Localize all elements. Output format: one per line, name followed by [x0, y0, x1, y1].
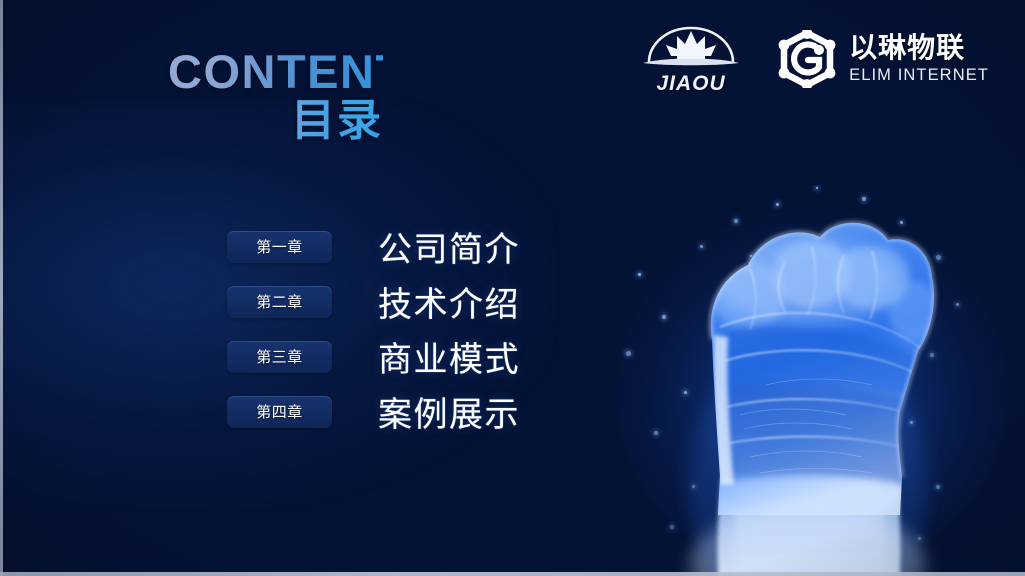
chapter-badge-label: 第二章	[256, 291, 303, 312]
chapter-badge-3[interactable]: 第三章	[227, 341, 332, 373]
slide-left-border	[0, 0, 3, 576]
chapter-badge-label: 第三章	[256, 346, 303, 367]
chapter-badge-4[interactable]: 第四章	[227, 396, 332, 428]
table-of-contents: 第一章 公司简介 第二章 技术介绍 第三章 商业模式 第四章 案例展示	[227, 228, 520, 430]
logo-group: JIAOU 以琳物联 ELIM INTERNET	[641, 22, 989, 96]
list-item[interactable]: 第四章 案例展示	[227, 393, 520, 430]
chapter-badge-1[interactable]: 第一章	[227, 231, 332, 263]
jiaou-wordmark: JIAOU	[641, 72, 741, 96]
list-item[interactable]: 第二章 技术介绍	[227, 283, 520, 320]
elim-logo-chinese: 以琳物联	[849, 34, 989, 62]
chapter-title-1[interactable]: 公司简介	[378, 222, 520, 271]
page-title: CONTENT 目录	[168, 48, 383, 144]
list-item[interactable]: 第三章 商业模式	[227, 338, 520, 375]
slide-bottom-border	[0, 572, 1025, 576]
page-title-chinese: 目录	[168, 98, 383, 144]
chapter-badge-label: 第四章	[256, 401, 303, 422]
molecular-g-icon	[775, 30, 839, 88]
presentation-slide: CONTENT 目录 JIAOU	[0, 0, 1025, 576]
elim-logo-english: ELIM INTERNET	[849, 67, 989, 84]
chapter-badge-label: 第一章	[256, 236, 303, 257]
elim-logo: 以琳物联 ELIM INTERNET	[775, 30, 989, 88]
chapter-badge-2[interactable]: 第二章	[227, 286, 332, 318]
chapter-title-4[interactable]: 案例展示	[378, 387, 520, 436]
jiaou-logo: JIAOU	[641, 22, 741, 96]
lotus-crown-arc-icon	[641, 22, 741, 70]
chapter-title-3[interactable]: 商业模式	[378, 332, 520, 381]
list-item[interactable]: 第一章 公司简介	[227, 228, 520, 265]
chapter-title-2[interactable]: 技术介绍	[378, 277, 520, 326]
page-title-english: CONTENT	[168, 48, 383, 96]
